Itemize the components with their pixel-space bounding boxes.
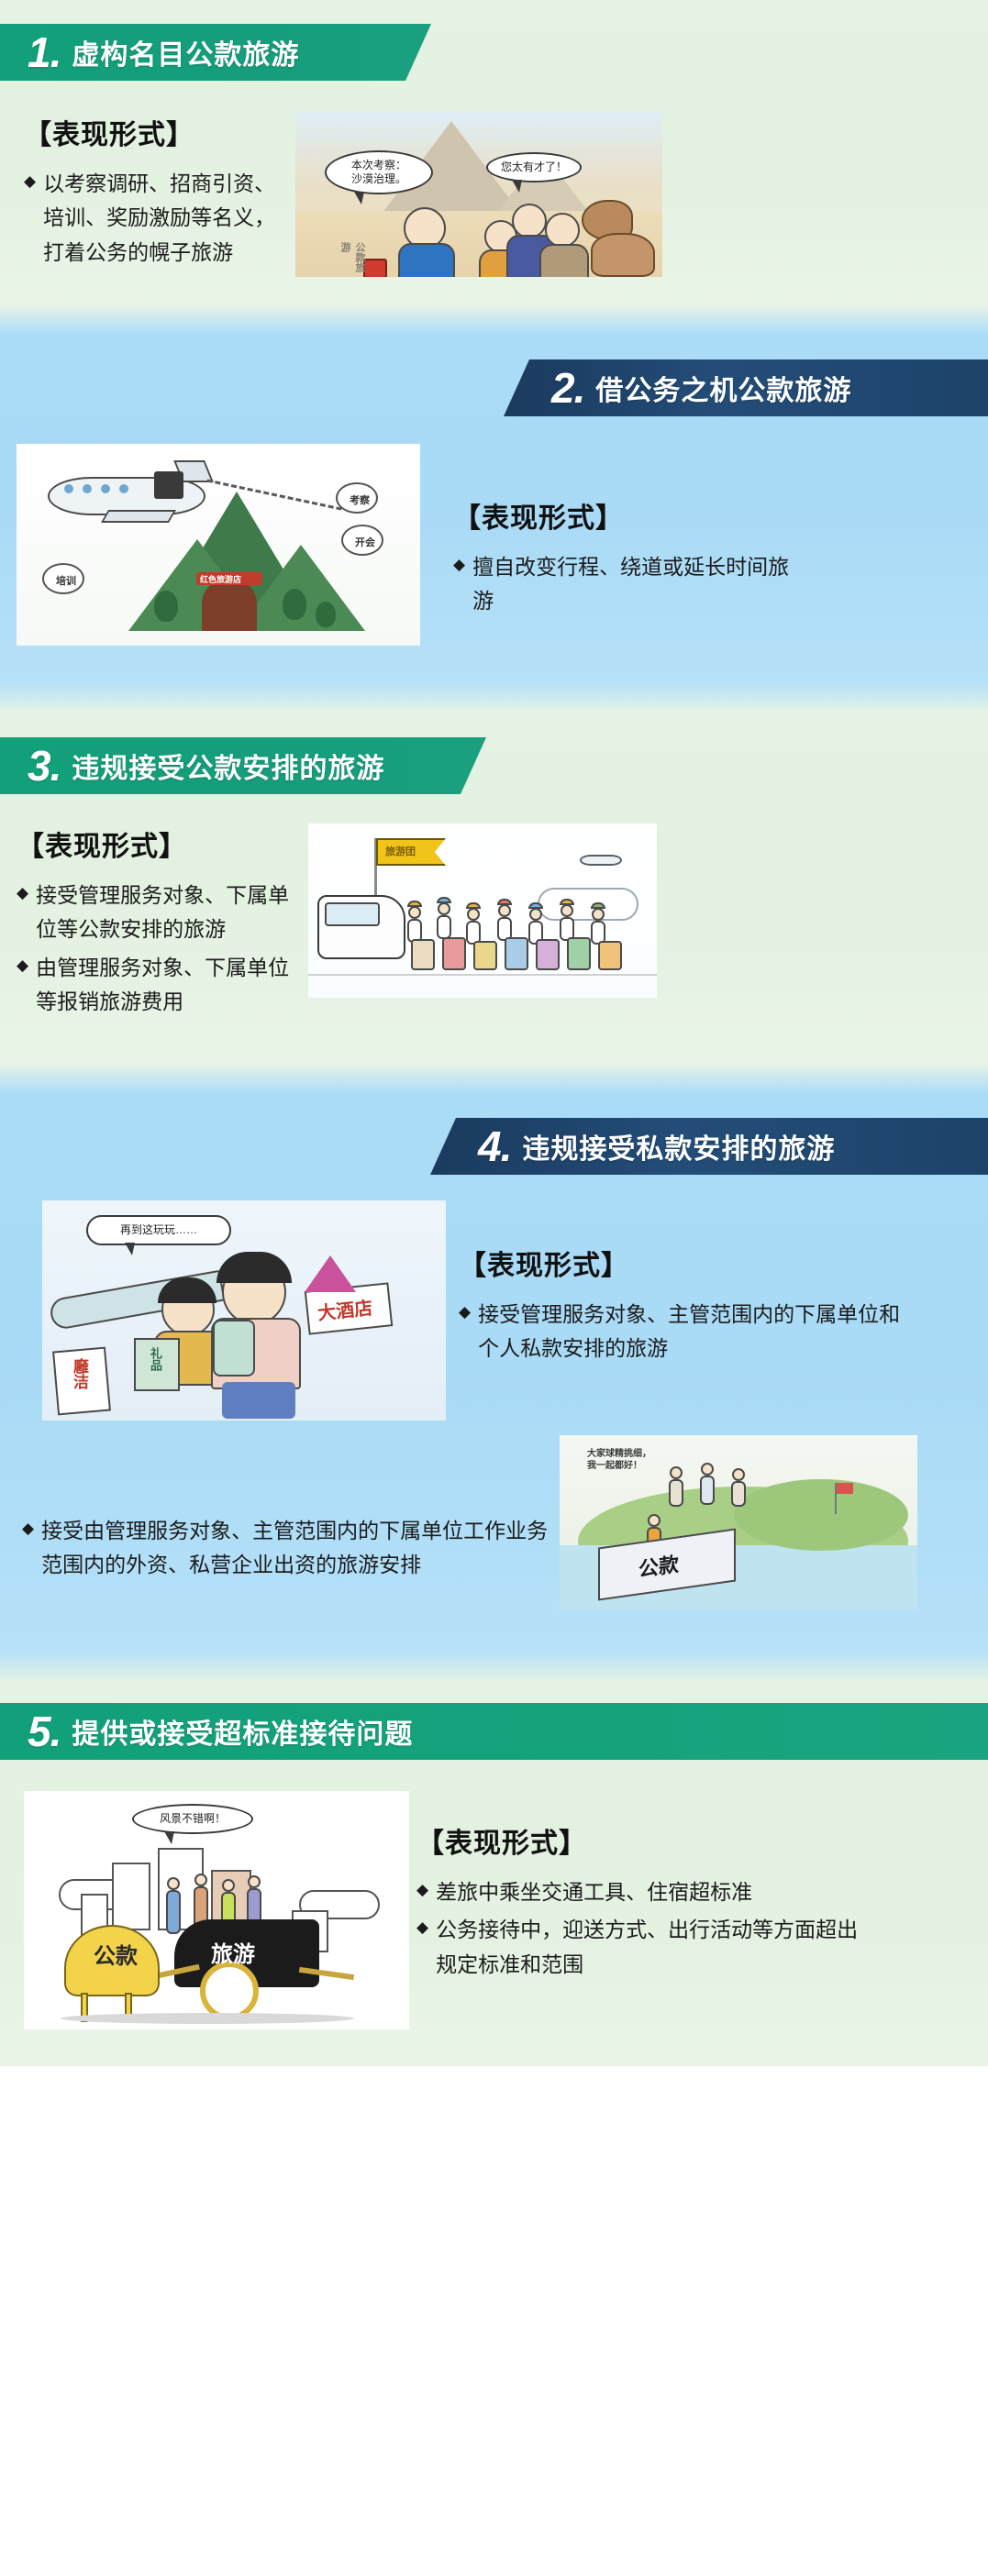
bullet-diamond-icon: ◆ bbox=[22, 1514, 34, 1583]
bullet-item: ◆ 公务接待中，迎送方式、出行活动等方面超出规定标准和范围 bbox=[416, 1913, 875, 1982]
bullet-item: ◆ 差旅中乘坐交通工具、住宿超标准 bbox=[416, 1875, 875, 1909]
speech-bubble: 再到这玩玩…… bbox=[86, 1215, 231, 1245]
image-tag: 公款 bbox=[638, 1548, 679, 1583]
bullet-diamond-icon: ◆ bbox=[24, 167, 36, 270]
section-5-number: 5. bbox=[28, 1710, 61, 1752]
image-tag: 公款 bbox=[94, 1938, 138, 1970]
bullet-text: 接受管理服务对象、下属单位等公款安排的旅游 bbox=[36, 879, 303, 947]
image-tag: 旅游团 bbox=[385, 844, 416, 858]
bullet-text: 公务接待中，迎送方式、出行活动等方面超出规定标准和范围 bbox=[436, 1913, 875, 1982]
image-tag: 旅游 bbox=[211, 1936, 255, 1968]
bullet-diamond-icon: ◆ bbox=[416, 1875, 428, 1909]
bullet-item: ◆ 擅自改变行程、绕道或延长时间旅游 bbox=[453, 550, 793, 619]
section-1-banner: 1. 虚构名目公款旅游 bbox=[0, 24, 431, 81]
section-1-title: 虚构名目公款旅游 bbox=[72, 32, 299, 72]
speech-bubble: 您太有才了！ bbox=[486, 152, 582, 182]
section-1-number: 1. bbox=[28, 31, 61, 73]
section-4-title: 违规接受私款安排的旅游 bbox=[522, 1126, 835, 1166]
bullet-item: ◆ 接受管理服务对象、下属单位等公款安排的旅游 bbox=[17, 879, 303, 947]
section-3-illustration: 旅游团 bbox=[308, 824, 657, 998]
speech-bubble: 本次考察： 沙漠治理。 bbox=[325, 150, 433, 194]
divider-blue-to-green bbox=[0, 682, 988, 713]
section-3-title: 违规接受公款安排的旅游 bbox=[72, 746, 384, 786]
section-5-title: 提供或接受超标准接待问题 bbox=[72, 1711, 413, 1752]
bullet-text: 擅自改变行程、绕道或延长时间旅游 bbox=[472, 550, 793, 619]
section-1-bullets: ◆ 以考察调研、招商引资、培训、奖励激励等名义，打着公务的幌子旅游 bbox=[24, 167, 292, 270]
speech-bubble: 风景不错啊！ bbox=[132, 1804, 253, 1834]
label-balloon: 培训 bbox=[42, 563, 84, 594]
section-2: 2. 借公务之机公款旅游 bbox=[0, 336, 988, 682]
label-balloon: 考察 bbox=[336, 482, 378, 514]
image-tag: 开会 bbox=[355, 535, 375, 549]
section-2-number: 2. bbox=[551, 367, 584, 409]
bullet-diamond-icon: ◆ bbox=[17, 879, 28, 947]
section-5-banner: 5. 提供或接受超标准接待问题 bbox=[0, 1703, 988, 1760]
section-2-banner: 2. 借公务之机公款旅游 bbox=[504, 359, 988, 416]
section-4-illustration-top: 再到这玩玩…… 大酒店 bbox=[42, 1200, 446, 1421]
bullet-text: 接受管理服务对象、主管范围内的下属单位和个人私款安排的旅游 bbox=[478, 1298, 914, 1366]
image-tag: 礼品 bbox=[147, 1347, 164, 1371]
bullet-diamond-icon: ◆ bbox=[453, 550, 465, 619]
bullet-text: 以考察调研、招商引资、培训、奖励激励等名义，打着公务的幌子旅游 bbox=[43, 167, 292, 270]
section-4: 4. 违规接受私款安排的旅游 再到这玩玩…… bbox=[0, 1094, 988, 1652]
section-3: 3. 违规接受公款安排的旅游 【表现形式】 ◆ 接受管理服务对象、下属单位等公款… bbox=[0, 713, 988, 1063]
section-4-number: 4. bbox=[478, 1125, 511, 1167]
bullet-text: 差旅中乘坐交通工具、住宿超标准 bbox=[436, 1875, 875, 1909]
bullet-item: ◆ 接受管理服务对象、主管范围内的下属单位和个人私款安排的旅游 bbox=[459, 1298, 914, 1366]
bullet-diamond-icon: ◆ bbox=[416, 1913, 428, 1982]
bullet-item: ◆ 由管理服务对象、下属单位等报销旅游费用 bbox=[17, 951, 303, 1020]
section-4-label: 【表现形式】 bbox=[459, 1243, 914, 1283]
section-4-illustration-bottom: 大家球精挑细， 我一起都好！ bbox=[560, 1435, 917, 1609]
divider-green-to-blue-2 bbox=[0, 1063, 988, 1094]
infographic-page: 1. 虚构名目公款旅游 【表现形式】 ◆ 以考察调研、招商引资、培训、奖励激励等… bbox=[0, 0, 988, 2066]
bullet-text: 接受由管理服务对象、主管范围内的下属单位工作业务范围内的外资、私营企业出资的旅游… bbox=[41, 1514, 560, 1583]
section-2-title: 借公务之机公款旅游 bbox=[595, 368, 851, 408]
section-3-label: 【表现形式】 bbox=[17, 824, 303, 864]
section-1-illustration: 本次考察： 沙漠治理。 您太有才了！ 公款旅游 bbox=[295, 112, 662, 277]
section-4-bullets-right: ◆ 接受管理服务对象、主管范围内的下属单位和个人私款安排的旅游 bbox=[459, 1298, 914, 1366]
section-4-banner: 4. 违规接受私款安排的旅游 bbox=[430, 1118, 988, 1175]
section-2-label: 【表现形式】 bbox=[453, 495, 793, 536]
section-1-label: 【表现形式】 bbox=[24, 112, 292, 152]
section-4-bullets-below: ◆ 接受由管理服务对象、主管范围内的下属单位工作业务范围内的外资、私营企业出资的… bbox=[22, 1514, 560, 1583]
image-tag: 考察 bbox=[350, 492, 370, 507]
section-5: 5. 提供或接受超标准接待问题 风景不错啊！ bbox=[0, 1683, 988, 2066]
bullet-item: ◆ 接受由管理服务对象、主管范围内的下属单位工作业务范围内的外资、私营企业出资的… bbox=[22, 1514, 560, 1583]
image-tag: 培训 bbox=[56, 573, 76, 588]
image-tag: 公款旅游 bbox=[338, 242, 367, 277]
image-tag: 红色旅游店 bbox=[200, 573, 241, 585]
bullet-item: ◆ 以考察调研、招商引资、培训、奖励激励等名义，打着公务的幌子旅游 bbox=[24, 167, 292, 270]
section-5-illustration: 风景不错啊！ bbox=[24, 1791, 409, 2029]
section-2-illustration: 红色旅游店 考察 开会 培训 bbox=[17, 444, 420, 646]
bullet-diamond-icon: ◆ bbox=[459, 1298, 471, 1366]
divider-green-to-blue bbox=[0, 304, 988, 336]
section-1: 1. 虚构名目公款旅游 【表现形式】 ◆ 以考察调研、招商引资、培训、奖励激励等… bbox=[0, 0, 988, 304]
bullet-text: 由管理服务对象、下属单位等报销旅游费用 bbox=[36, 951, 303, 1020]
bullet-diamond-icon: ◆ bbox=[17, 951, 28, 1020]
section-2-bullets: ◆ 擅自改变行程、绕道或延长时间旅游 bbox=[453, 550, 793, 619]
image-tag: 廱洁 bbox=[68, 1358, 91, 1389]
section-3-bullets: ◆ 接受管理服务对象、下属单位等公款安排的旅游 ◆ 由管理服务对象、下属单位等报… bbox=[17, 879, 303, 1019]
image-tag: 大家球精挑细， 我一起都好！ bbox=[587, 1448, 651, 1472]
section-3-number: 3. bbox=[28, 745, 61, 787]
section-5-bullets: ◆ 差旅中乘坐交通工具、住宿超标准 ◆ 公务接待中，迎送方式、出行活动等方面超出… bbox=[416, 1875, 875, 1982]
section-5-label: 【表现形式】 bbox=[416, 1820, 875, 1861]
divider-blue-to-green-2 bbox=[0, 1652, 988, 1683]
label-balloon: 开会 bbox=[341, 525, 383, 556]
section-3-banner: 3. 违规接受公款安排的旅游 bbox=[0, 737, 486, 794]
